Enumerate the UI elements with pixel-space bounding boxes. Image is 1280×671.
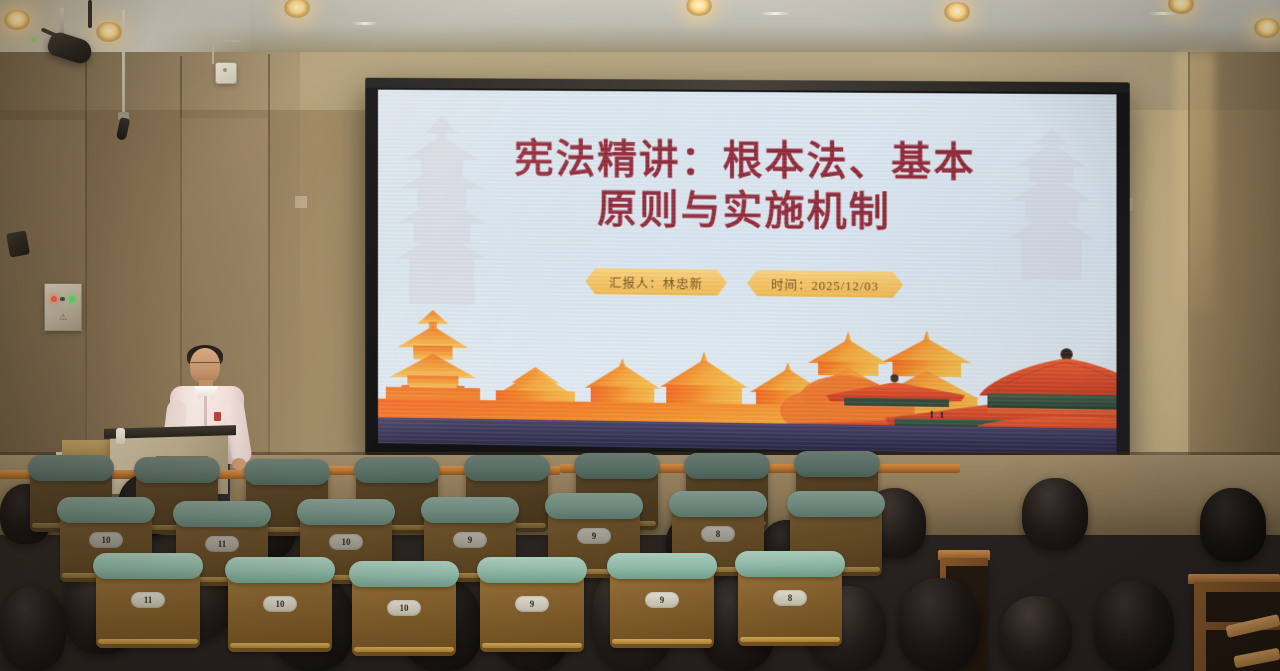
audience-head: [0, 586, 66, 671]
led-green: [69, 296, 75, 302]
date-badge: 时间：2025/12/03: [747, 270, 903, 298]
auditorium-seat[interactable]: 9: [480, 570, 584, 652]
ceiling-light-strip: [1148, 12, 1178, 15]
audience-seating: 101110998111010998: [0, 470, 1280, 671]
ceiling-light-strip: [760, 12, 790, 15]
wifi-indicator: [223, 68, 227, 72]
seat-cushion: [574, 453, 661, 479]
seat-trim: [612, 639, 712, 644]
seat-trim: [230, 643, 330, 648]
seat-number-plate: 10: [387, 600, 421, 616]
seat-cushion: [354, 457, 441, 483]
auditorium-seat[interactable]: 11: [96, 566, 200, 648]
led-display-screen[interactable]: 宪法精讲：根本法、基本 原则与实施机制 汇报人：林忠新 时间：2025/12/0…: [365, 78, 1130, 469]
audience-head: [1022, 478, 1088, 550]
electrical-panel: [44, 283, 82, 331]
seat-cushion: [421, 497, 519, 523]
slide-title-line-2: 原则与实施机制: [378, 183, 1117, 241]
hanging-cable: [122, 10, 125, 118]
seat-cushion: [173, 501, 271, 527]
seat-number-plate: 10: [329, 534, 363, 550]
ceiling-downlight: [944, 2, 970, 22]
name-badge: [214, 412, 221, 421]
seat-number-plate: 9: [515, 596, 549, 612]
wall-outlet-plate: [295, 196, 307, 208]
seat-cushion: [684, 453, 771, 479]
audience-head: [898, 578, 980, 671]
seat-cushion: [28, 455, 115, 481]
wall-panel-seam: [85, 58, 87, 498]
seat-cushion: [297, 499, 395, 525]
seat-number-plate: 8: [773, 590, 807, 606]
ceiling-rod: [88, 0, 92, 28]
seat-cushion: [349, 561, 459, 587]
seat-cushion: [225, 557, 335, 583]
seat-number-plate: 9: [577, 528, 611, 544]
led-off: [60, 297, 65, 301]
seat-cushion: [134, 457, 221, 483]
seat-cushion: [477, 557, 587, 583]
seat-cushion: [244, 459, 331, 485]
auditorium-seat[interactable]: 10: [228, 570, 332, 652]
seat-number-plate: 11: [131, 592, 165, 608]
audience-head: [1000, 596, 1072, 671]
audience-head: [1094, 580, 1174, 671]
seat-number-plate: 10: [89, 532, 123, 548]
seat-number-plate: 8: [701, 526, 735, 542]
seat-trim: [740, 637, 840, 642]
presenter-badge: 汇报人：林忠新: [585, 268, 727, 296]
ceiling-downlight: [1254, 18, 1280, 38]
warning-triangle-icon: ⚠: [56, 311, 70, 323]
slide-title-line-1: 宪法精讲：根本法、基本: [514, 136, 976, 185]
projector-mount: [26, 8, 96, 48]
access-point-conduit: [212, 40, 240, 64]
wifi-access-point-icon: [215, 62, 237, 84]
seat-cushion: [794, 451, 881, 477]
seat-trim: [482, 643, 582, 648]
ceiling-light-strip: [352, 22, 378, 25]
wall-light-glow: [1175, 52, 1215, 312]
projector-status-led: [32, 38, 36, 42]
wall-panel-seam: [268, 54, 270, 494]
auditorium-seat[interactable]: 10: [352, 574, 456, 656]
seat-number-plate: 10: [263, 596, 297, 612]
seat-layer: 101110998111010998: [0, 470, 1280, 671]
seat-cushion: [607, 553, 717, 579]
seat-number-plate: 11: [205, 536, 239, 552]
audience-head: [1200, 488, 1266, 562]
seat-cushion: [669, 491, 767, 517]
slide-title: 宪法精讲：根本法、基本 原则与实施机制: [378, 133, 1117, 240]
lecture-hall-photo: ⚠: [0, 0, 1280, 671]
seat-cushion: [735, 551, 845, 577]
seat-number-plate: 9: [453, 532, 487, 548]
seat-cushion: [93, 553, 203, 579]
water-bottle-icon: [116, 428, 125, 444]
auditorium-seat[interactable]: 8: [738, 564, 842, 646]
glasses-icon: [191, 362, 219, 368]
seat-cushion: [787, 491, 885, 517]
seat-cushion: [545, 493, 643, 519]
seat-trim: [98, 639, 198, 644]
presentation-slide[interactable]: 宪法精讲：根本法、基本 原则与实施机制 汇报人：林忠新 时间：2025/12/0…: [378, 90, 1117, 455]
ceiling-downlight: [96, 22, 122, 42]
wall-speaker-icon: [6, 230, 30, 257]
seat-number-plate: 9: [645, 592, 679, 608]
seat-cushion: [464, 455, 551, 481]
seat-cushion: [57, 497, 155, 523]
led-red: [51, 296, 57, 302]
auditorium-seat[interactable]: 9: [610, 566, 714, 648]
seat-trim: [354, 647, 454, 652]
